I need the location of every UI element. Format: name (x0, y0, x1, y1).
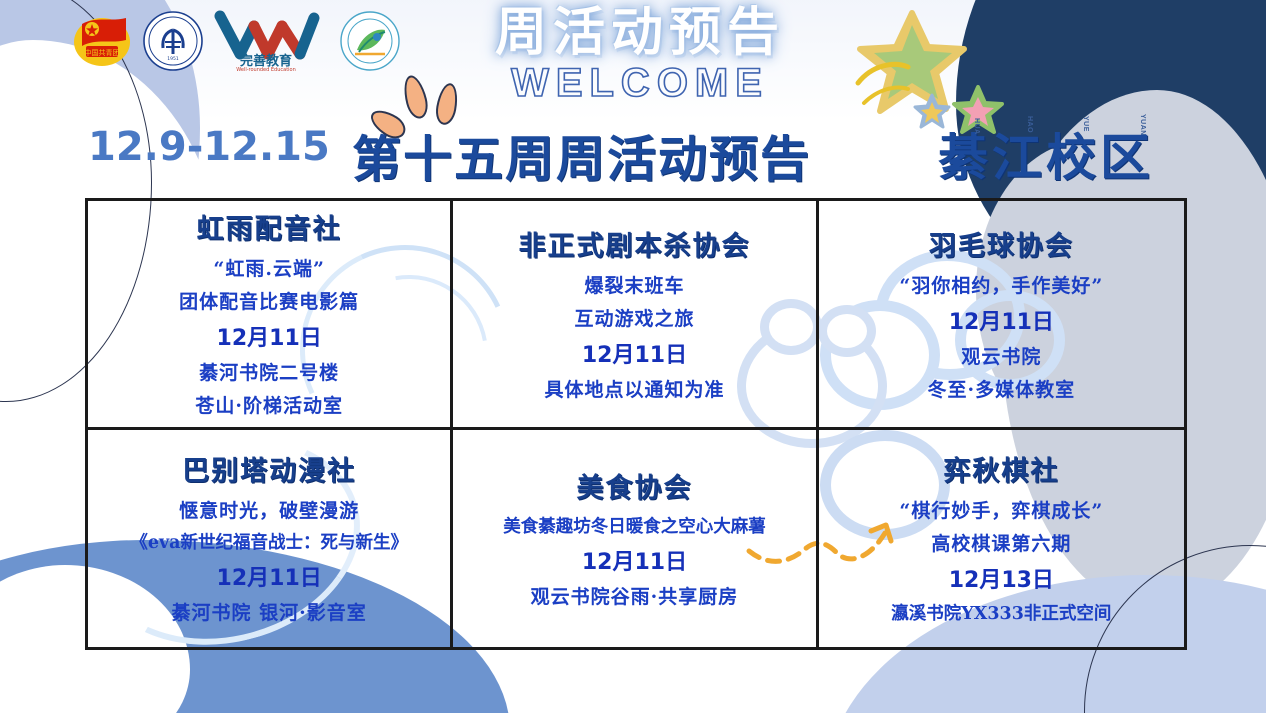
poster-canvas: 中国共青团 1951 完善教育 Well-rounded Education (0, 0, 1266, 713)
club-name: 羽毛球协会 (929, 224, 1074, 263)
campus-name: 綦江校区 (938, 118, 1154, 190)
activity-venue: 观云书院 (961, 342, 1041, 369)
activity-cell[interactable]: 虹雨配音社 “虹雨.云端” 团体配音比赛电影篇 12月11日 綦河书院二号楼 苍… (88, 201, 453, 430)
activity-venue: 具体地点以通知为准 (544, 375, 724, 402)
activity-venue: 綦河书院 银河·影音室 (172, 598, 367, 625)
activity-cell[interactable]: 美食协会 美食綦趣坊冬日暖食之空心大麻薯 12月11日 观云书院谷雨·共享厨房 (453, 430, 818, 647)
svg-text:中国共青团: 中国共青团 (85, 48, 120, 57)
club-name: 巴别塔动漫社 (182, 449, 356, 488)
page-title: 周活动预告 (430, 6, 850, 61)
activity-cell[interactable]: 弈秋棋社 “棋行妙手，弈棋成长” 高校棋课第六期 12月13日 瀛溪书院YX33… (819, 430, 1184, 647)
activity-line: “虹雨.云端” (213, 254, 324, 281)
pinyin-hao: HAO (1026, 116, 1033, 133)
activity-line: 爆裂末班车 (584, 271, 684, 298)
welcome-text: WELCOME (430, 63, 850, 103)
logo-bar: 中国共青团 1951 完善教育 Well-rounded Education (72, 10, 401, 72)
pinyin-hua: HUA (973, 118, 980, 135)
petal-decor-center (400, 73, 431, 121)
activity-venue: 綦河书院二号楼 (199, 358, 339, 385)
club-name: 非正式剧本杀协会 (518, 224, 750, 263)
activity-line: 团体配音比赛电影篇 (179, 287, 359, 314)
svg-text:1951: 1951 (167, 56, 179, 62)
pinyin-yuan: YUAN (1139, 114, 1146, 136)
swoosh-line-lower (864, 88, 908, 103)
activity-date: 12月13日 (949, 562, 1054, 594)
activity-line: 《eva新世纪福音战士：死与新生》 (130, 529, 408, 554)
svg-text:Well-rounded Education: Well-rounded Education (236, 67, 296, 72)
activity-line: 互动游戏之旅 (574, 304, 694, 331)
activity-venue: 苍山·阶梯活动室 (195, 391, 343, 418)
activity-line: “羽你相约，手作美好” (899, 271, 1103, 298)
star-large-yellow (860, 13, 964, 111)
activity-line: 美食綦趣坊冬日暖食之空心大麻薯 (503, 513, 766, 538)
activity-date: 12月11日 (217, 560, 322, 592)
club-name: 美食协会 (576, 466, 692, 505)
star-cluster-decor (850, 5, 1030, 135)
chongqing-college-seal: 1951 (142, 10, 204, 72)
activity-date: 12月11日 (582, 337, 687, 369)
week-subtitle: 第十五周周活动预告 (352, 120, 811, 191)
vm-wellrounded-education-logo: 完善教育 Well-rounded Education (214, 10, 329, 72)
activity-venue: 观云书院谷雨·共享厨房 (531, 582, 739, 609)
activity-venue: 冬至·多媒体教室 (928, 375, 1076, 402)
activity-date: 12月11日 (217, 320, 322, 352)
green-campus-emblem (339, 10, 401, 72)
activity-cell[interactable]: 非正式剧本杀协会 爆裂末班车 互动游戏之旅 12月11日 具体地点以通知为准 (453, 201, 818, 430)
pinyin-yue: YUE (1082, 116, 1089, 132)
activity-cell[interactable]: 巴别塔动漫社 惬意时光，破壁漫游 《eva新世纪福音战士：死与新生》 12月11… (88, 430, 453, 647)
communist-youth-league-emblem: 中国共青团 (72, 10, 132, 72)
activity-venue: 瀛溪书院YX333非正式空间 (891, 600, 1111, 625)
activity-line: 惬意时光，破壁漫游 (179, 496, 359, 523)
club-name: 虹雨配音社 (197, 207, 342, 246)
activity-date: 12月11日 (949, 304, 1054, 336)
main-title-block: 周活动预告 WELCOME (430, 6, 850, 103)
date-range: 12.9-12.15 (88, 124, 330, 170)
swoosh-line-upper (858, 64, 908, 83)
star-large-green (874, 25, 952, 99)
activity-line: 高校棋课第六期 (931, 529, 1071, 556)
activity-cell[interactable]: 羽毛球协会 “羽你相约，手作美好” 12月11日 观云书院 冬至·多媒体教室 (819, 201, 1184, 430)
activity-line: “棋行妙手，弈棋成长” (899, 496, 1103, 523)
activity-date: 12月11日 (582, 544, 687, 576)
club-name: 弈秋棋社 (943, 449, 1059, 488)
activity-table: 虹雨配音社 “虹雨.云端” 团体配音比赛电影篇 12月11日 綦河书院二号楼 苍… (85, 198, 1187, 650)
